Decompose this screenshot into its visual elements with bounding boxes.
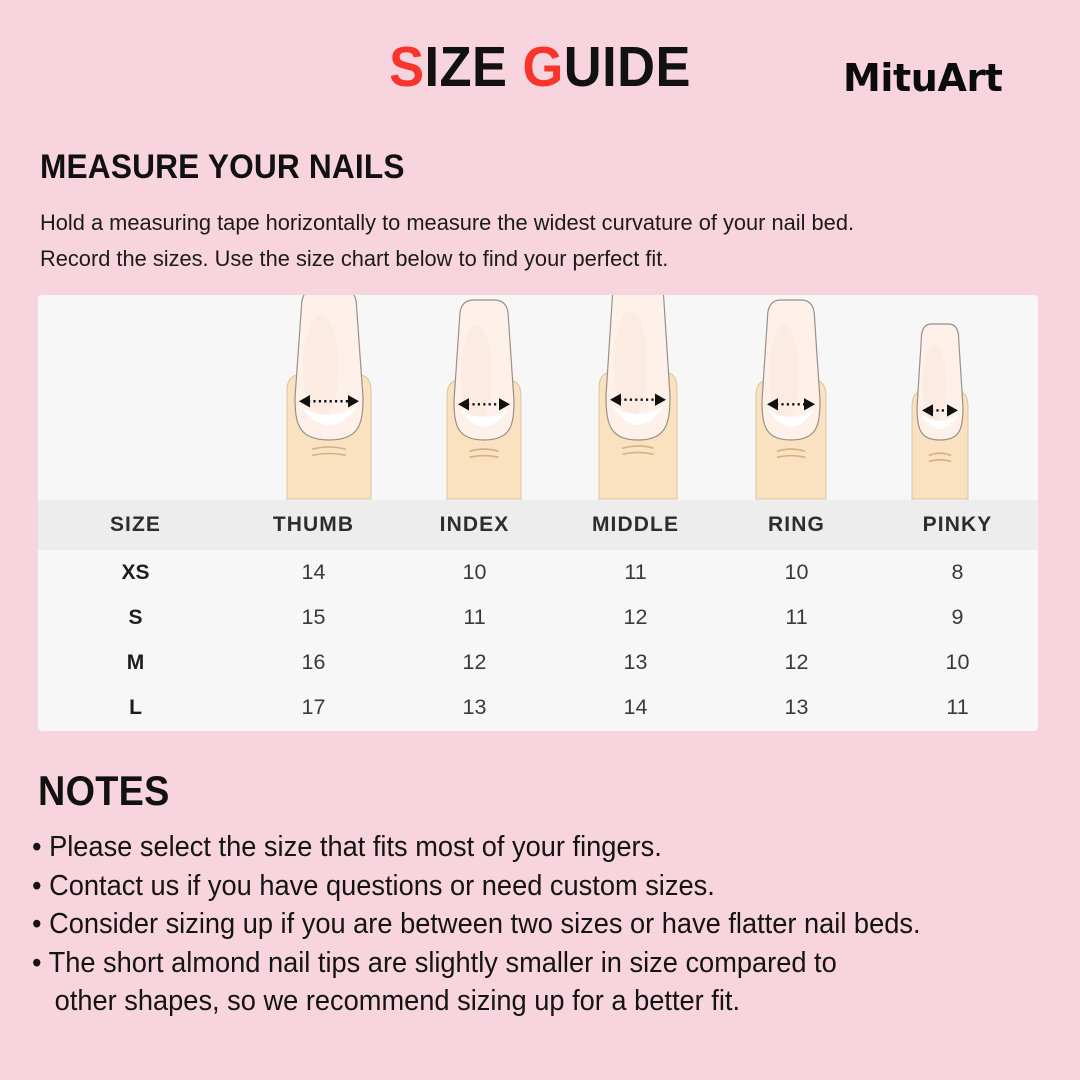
column-header-middle: MIDDLE	[555, 500, 716, 550]
title-text-uide: UIDE	[564, 35, 691, 99]
finger-illustration-middle	[592, 295, 684, 500]
measurement-index: 11	[394, 595, 555, 640]
size-label: XS	[38, 550, 233, 595]
measurement-thumb: 17	[233, 685, 394, 730]
notes-heading: NOTES	[38, 767, 170, 815]
nail-illustrations	[38, 295, 1038, 500]
measurement-ring: 13	[716, 685, 877, 730]
measurement-pinky: 11	[877, 685, 1038, 730]
column-header-index: INDEX	[394, 500, 555, 550]
note-item: • The short almond nail tips are slightl…	[32, 944, 1020, 983]
finger-illustration-index	[440, 298, 528, 500]
note-item: other shapes, so we recommend sizing up …	[32, 982, 1020, 1021]
column-header-size: SIZE	[38, 500, 233, 550]
measurement-middle: 14	[555, 685, 716, 730]
table-row: S151112119	[38, 595, 1038, 640]
table-row: M1612131210	[38, 640, 1038, 685]
note-item: • Consider sizing up if you are between …	[32, 905, 1020, 944]
finger-illustration-pinky	[905, 322, 975, 500]
measurement-thumb: 15	[233, 595, 394, 640]
measurement-middle: 12	[555, 595, 716, 640]
size-label: M	[38, 640, 233, 685]
table-header-row: SIZE THUMB INDEX MIDDLE RING PINKY	[38, 500, 1038, 550]
measure-heading: MEASURE YOUR NAILS	[40, 148, 405, 187]
measurement-middle: 11	[555, 550, 716, 595]
column-header-pinky: PINKY	[877, 500, 1038, 550]
measurement-pinky: 10	[877, 640, 1038, 685]
finger-illustration-ring	[749, 298, 833, 500]
measurement-index: 12	[394, 640, 555, 685]
measurement-ring: 12	[716, 640, 877, 685]
brand-logo: MituArt	[843, 56, 1003, 100]
measure-instructions: Hold a measuring tape horizontally to me…	[40, 205, 1020, 277]
title-accent-g: G	[523, 35, 564, 99]
measurement-pinky: 9	[877, 595, 1038, 640]
measure-line-2: Record the sizes. Use the size chart bel…	[40, 241, 1020, 277]
column-header-ring: RING	[716, 500, 877, 550]
size-chart-panel: SIZE THUMB INDEX MIDDLE RING PINKY XS141…	[38, 295, 1038, 731]
measurement-index: 13	[394, 685, 555, 730]
measurement-middle: 13	[555, 640, 716, 685]
measurement-ring: 11	[716, 595, 877, 640]
table-row: L1713141311	[38, 685, 1038, 730]
size-chart-table: SIZE THUMB INDEX MIDDLE RING PINKY XS141…	[38, 500, 1038, 730]
finger-illustration-thumb	[280, 295, 378, 500]
title-accent-s: S	[389, 35, 424, 99]
measurement-index: 10	[394, 550, 555, 595]
size-label: S	[38, 595, 233, 640]
column-header-thumb: THUMB	[233, 500, 394, 550]
measurement-pinky: 8	[877, 550, 1038, 595]
measurement-thumb: 16	[233, 640, 394, 685]
note-item: • Please select the size that fits most …	[32, 828, 1020, 867]
note-item: • Contact us if you have questions or ne…	[32, 867, 1020, 906]
table-row: XS141011108	[38, 550, 1038, 595]
notes-list: • Please select the size that fits most …	[32, 828, 1067, 1021]
measurement-thumb: 14	[233, 550, 394, 595]
title-text-ize: IZE	[425, 35, 523, 99]
measurement-ring: 10	[716, 550, 877, 595]
page-header: SIZE GUIDE MituArt	[0, 0, 1080, 128]
measure-line-1: Hold a measuring tape horizontally to me…	[40, 205, 1020, 241]
size-label: L	[38, 685, 233, 730]
